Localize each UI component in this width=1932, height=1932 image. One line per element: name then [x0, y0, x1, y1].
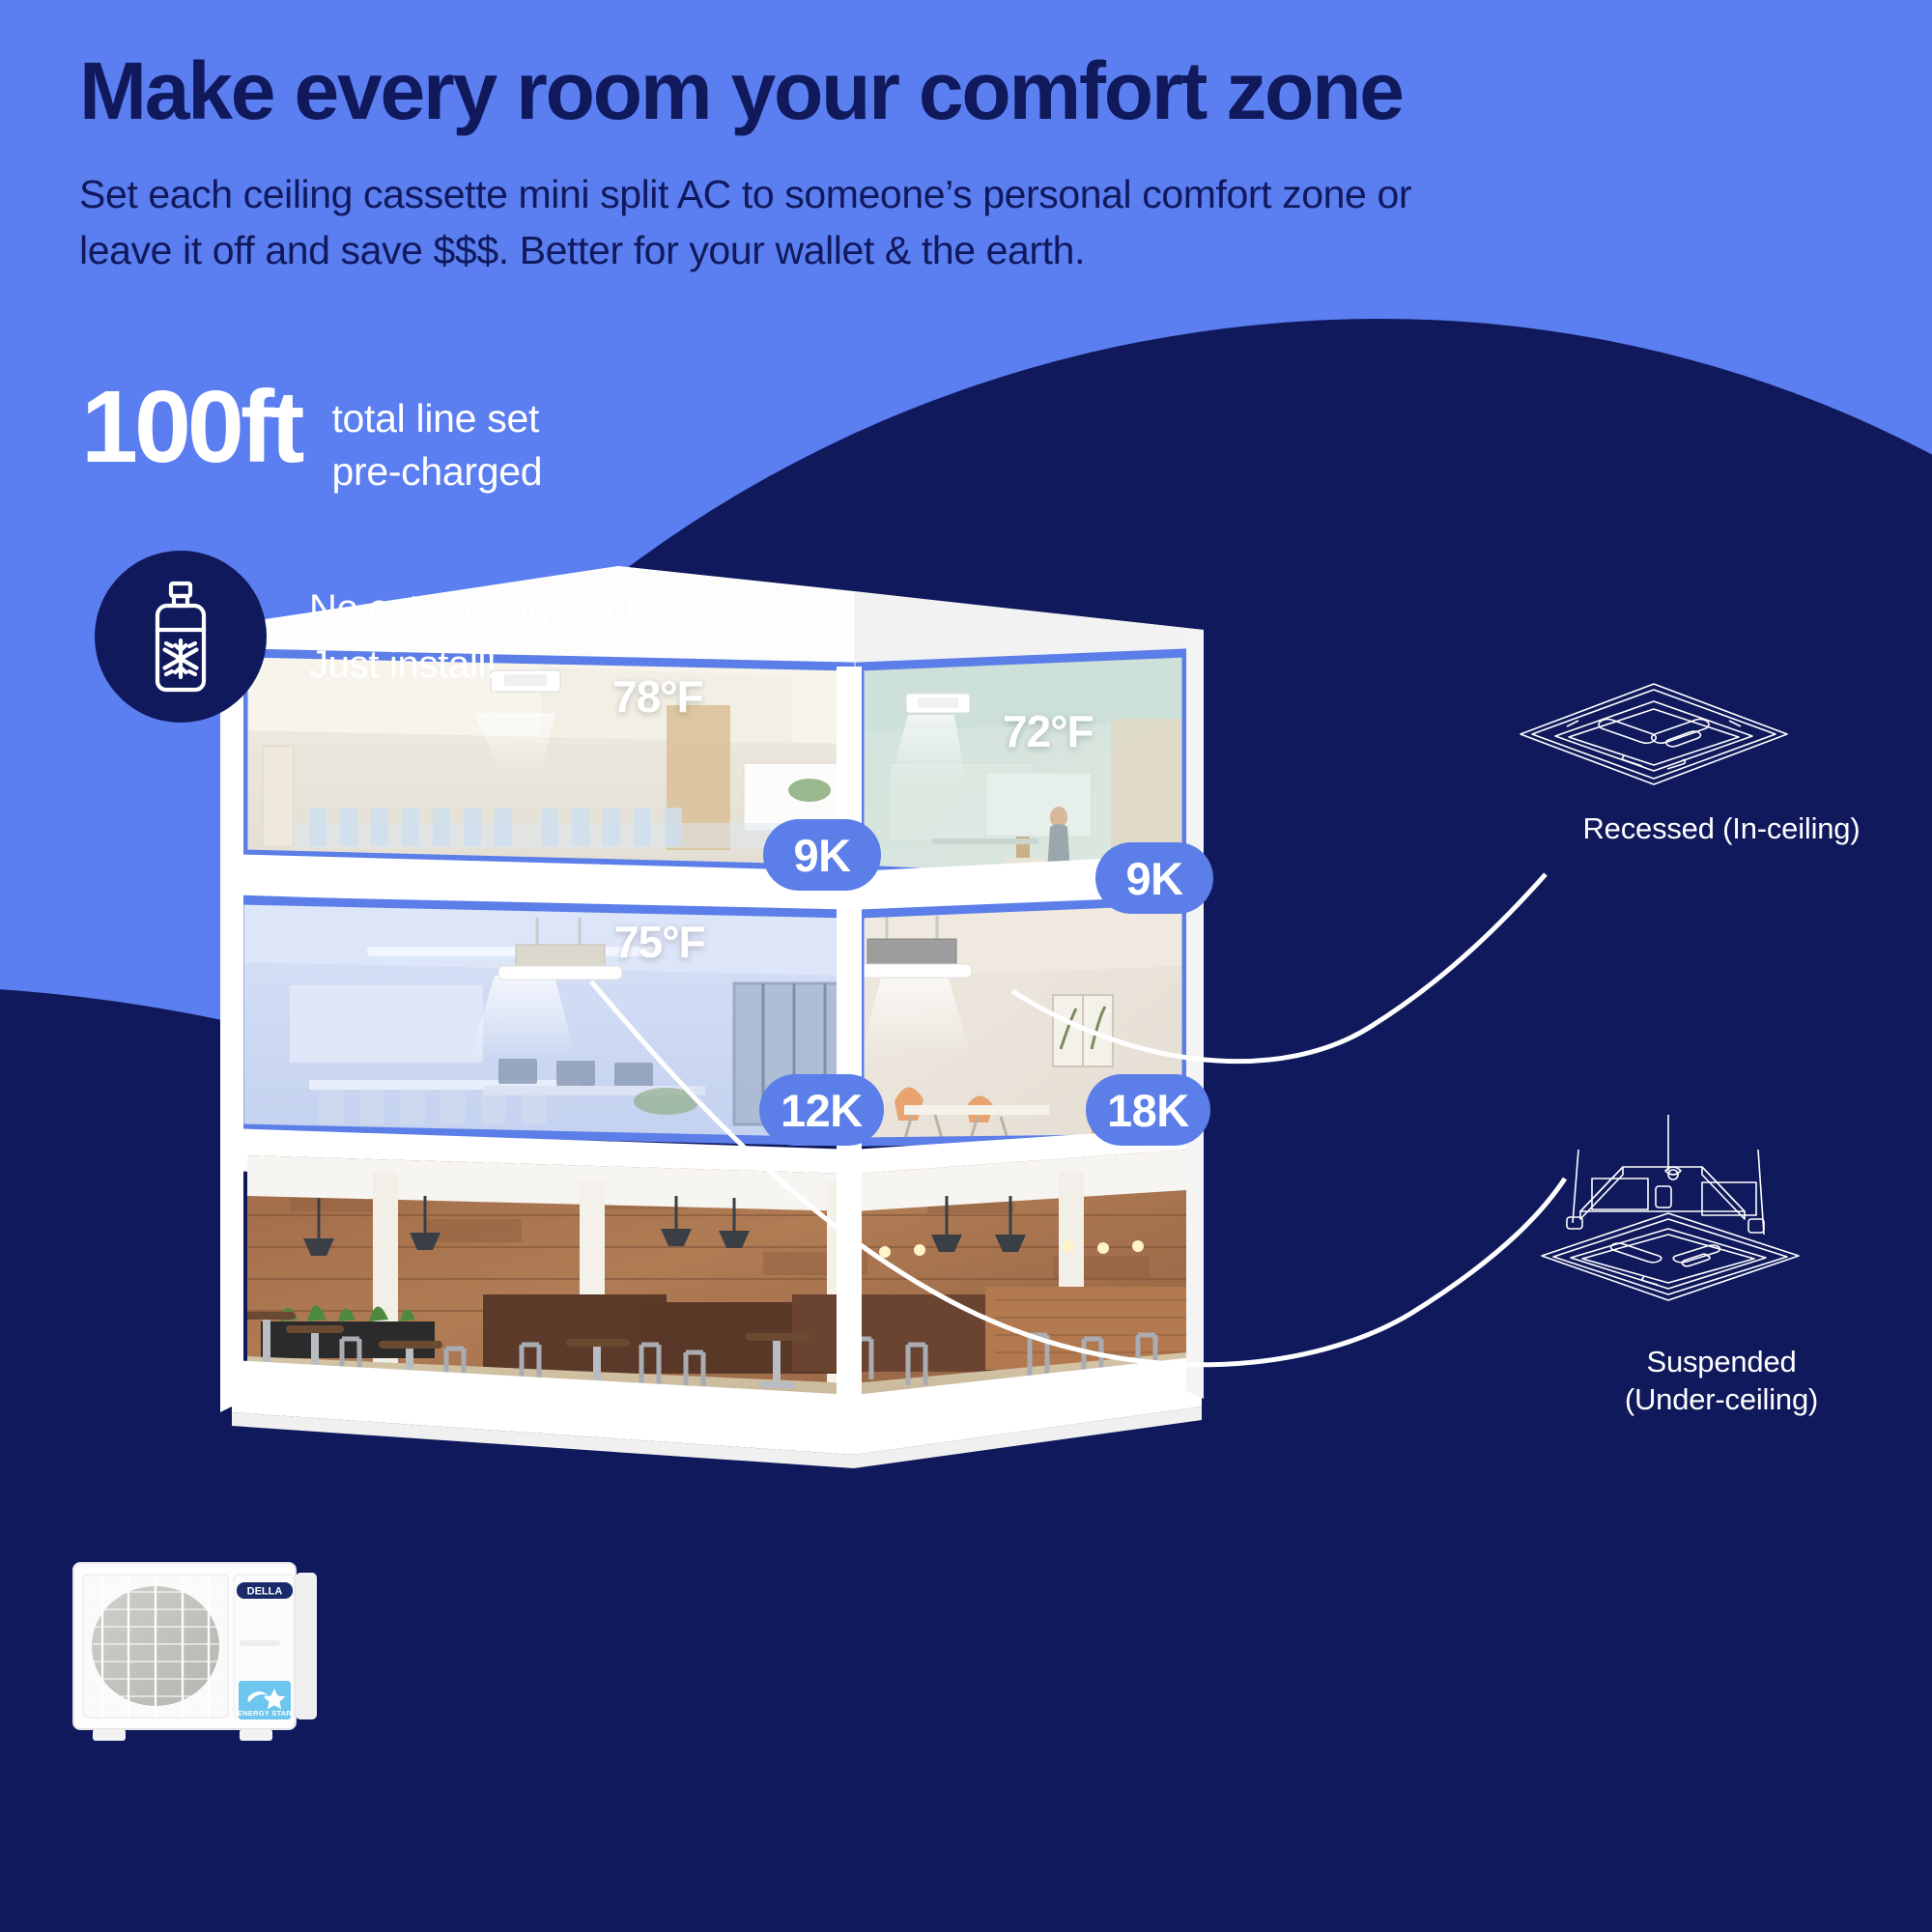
- btu-badge-9k-right: 9K: [1095, 842, 1213, 914]
- callout-recessed-label: Recessed (In-ceiling): [1509, 810, 1932, 847]
- energy-star-label: ENERGY STAR: [238, 1709, 292, 1718]
- line-set-description: total line set pre-charged: [331, 392, 542, 498]
- callout-suspended: Suspended (Under-ceiling): [1509, 1111, 1932, 1418]
- header-block: Make every room your comfort zone Set ea…: [79, 50, 1895, 278]
- callout-suspended-label-line2: (Under-ceiling): [1509, 1380, 1932, 1418]
- btu-badge-18k: 18K: [1086, 1074, 1210, 1146]
- temp-label-72f: 72°F: [1003, 705, 1094, 757]
- recessed-cassette-wireframe-icon: [1509, 676, 1932, 800]
- page-subtitle: Set each ceiling cassette mini split AC …: [79, 166, 1441, 278]
- callout-suspended-label: Suspended (Under-ceiling): [1509, 1343, 1932, 1418]
- outdoor-condenser-unit: DELLA ENERGY STAR: [70, 1551, 326, 1759]
- temp-label-75f: 75°F: [614, 916, 705, 968]
- callout-suspended-label-line1: Suspended: [1509, 1343, 1932, 1380]
- line-set-desc-line1: total line set: [331, 392, 542, 445]
- line-set-stat: 100ft total line set pre-charged: [81, 379, 542, 498]
- line-set-desc-line2: pre-charged: [331, 445, 542, 498]
- refrigerant-tank-snowflake-icon: [142, 580, 219, 694]
- btu-badge-12k: 12K: [759, 1074, 884, 1146]
- infographic-canvas: Make every room your comfort zone Set ea…: [0, 0, 1932, 1932]
- refrigerant-icon-circle: [95, 551, 267, 723]
- recessed-cassette-unit-72f: [906, 694, 970, 713]
- btu-badge-9k-left: 9K: [763, 819, 881, 891]
- temp-label-78f: 78°F: [612, 670, 703, 723]
- page-title: Make every room your comfort zone: [79, 50, 1895, 133]
- line-set-length-value: 100ft: [81, 379, 300, 476]
- refrigerant-feature: No extra refrigerant Just install!: [95, 551, 637, 723]
- callout-recessed: Recessed (In-ceiling): [1509, 676, 1932, 847]
- condenser-brand-label: DELLA: [247, 1586, 283, 1598]
- refrigerant-text: No extra refrigerant Just install!: [309, 581, 637, 693]
- suspended-cassette-wireframe-icon: [1509, 1111, 1932, 1333]
- refrigerant-line2: Just install!: [309, 637, 637, 693]
- refrigerant-line1: No extra refrigerant: [309, 581, 637, 637]
